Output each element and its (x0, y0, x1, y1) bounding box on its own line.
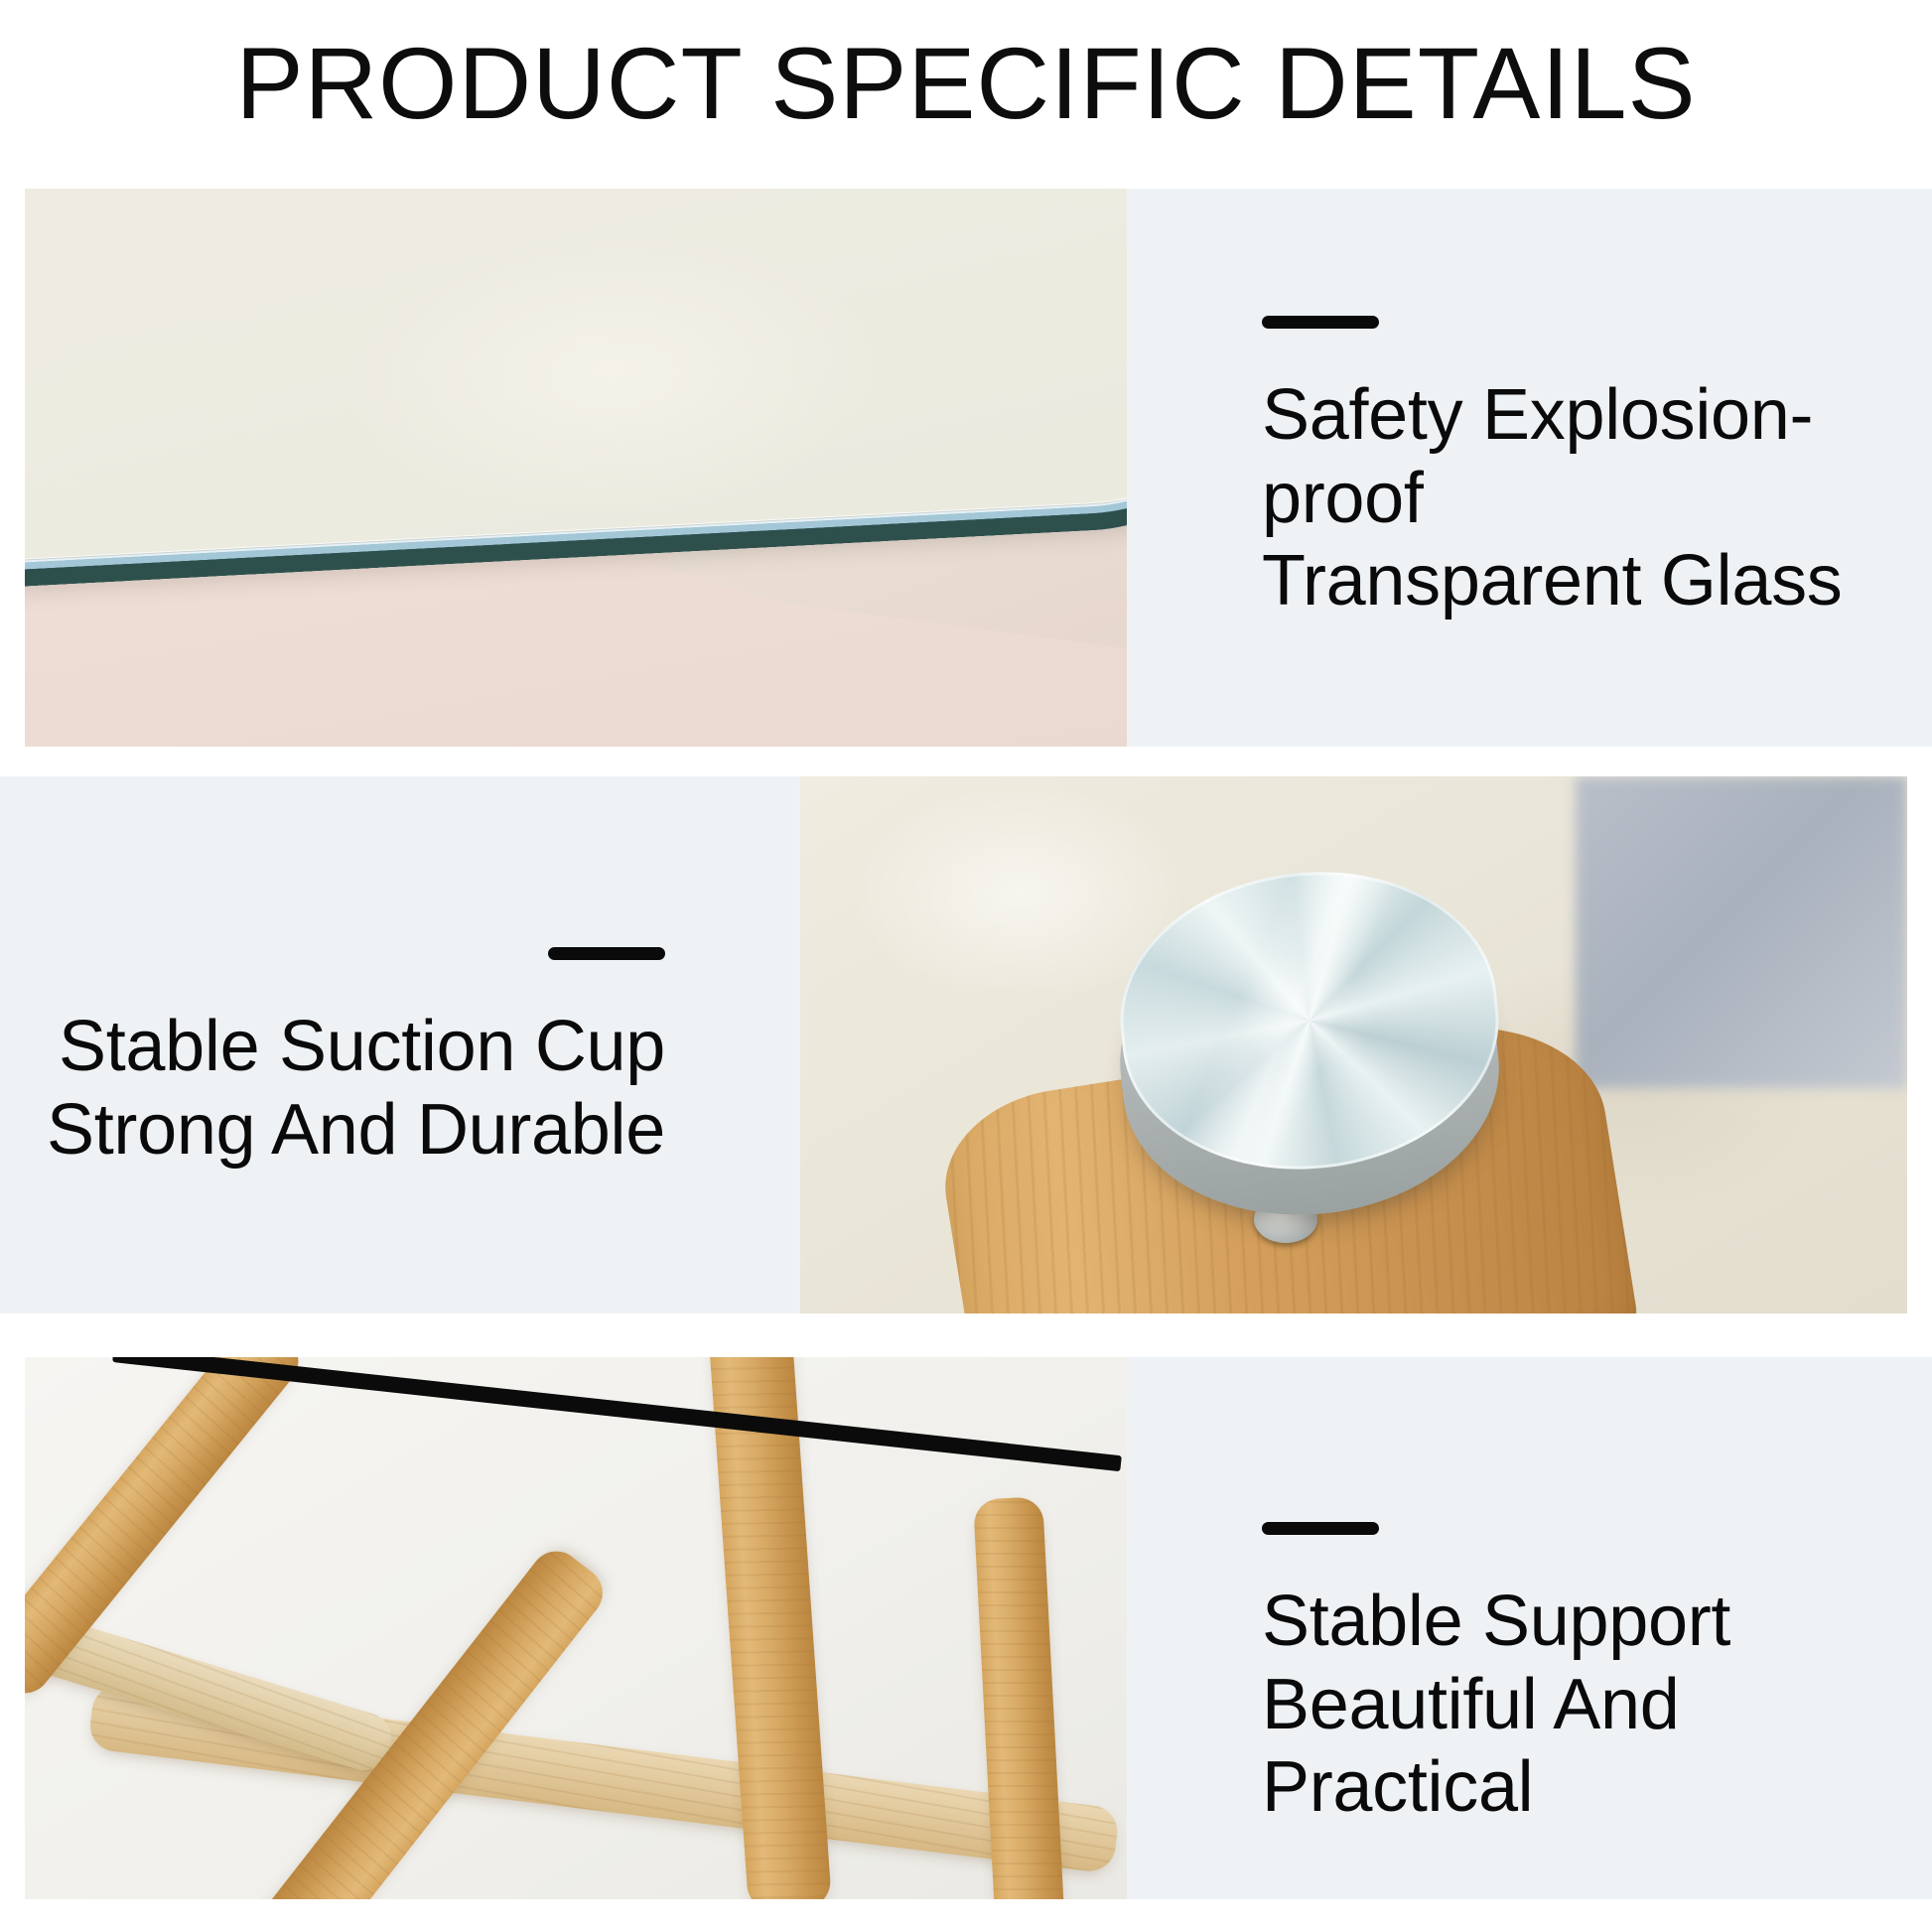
caption-block-safety-glass: Safety Explosion-proof Transparent Glass (1262, 316, 1932, 623)
caption-text-suction-cup: Stable Suction Cup Strong And Durable (47, 1006, 665, 1172)
suction-cup-photo (800, 776, 1907, 1313)
glass-corner-photo (25, 189, 1127, 747)
caption-text-safety-glass: Safety Explosion-proof Transparent Glass (1262, 374, 1932, 623)
glass-edge-gloss (25, 189, 1127, 570)
wooden-legs-photo (25, 1357, 1127, 1899)
feature-row-stable-support: Stable Support Beautiful And Practical (25, 1357, 1932, 1899)
suction-photo-curtain-backdrop (1576, 776, 1908, 1088)
feature-text-pane-suction-cup: Stable Suction Cup Strong And Durable (0, 776, 800, 1313)
caption-block-suction-cup: Stable Suction Cup Strong And Durable (47, 947, 665, 1172)
page-title: PRODUCT SPECIFIC DETAILS (0, 28, 1932, 139)
accent-dash-icon (548, 947, 665, 960)
feature-row-safety-glass: Safety Explosion-proof Transparent Glass (25, 189, 1932, 747)
accent-dash-icon (1262, 1522, 1379, 1535)
feature-row-suction-cup: Stable Suction Cup Strong And Durable (0, 776, 1907, 1313)
caption-text-stable-support: Stable Support Beautiful And Practical (1262, 1581, 1932, 1830)
feature-text-pane-stable-support: Stable Support Beautiful And Practical (1127, 1357, 1932, 1899)
accent-dash-icon (1262, 316, 1379, 329)
feature-text-pane-safety-glass: Safety Explosion-proof Transparent Glass (1127, 189, 1932, 747)
caption-block-stable-support: Stable Support Beautiful And Practical (1262, 1522, 1932, 1830)
